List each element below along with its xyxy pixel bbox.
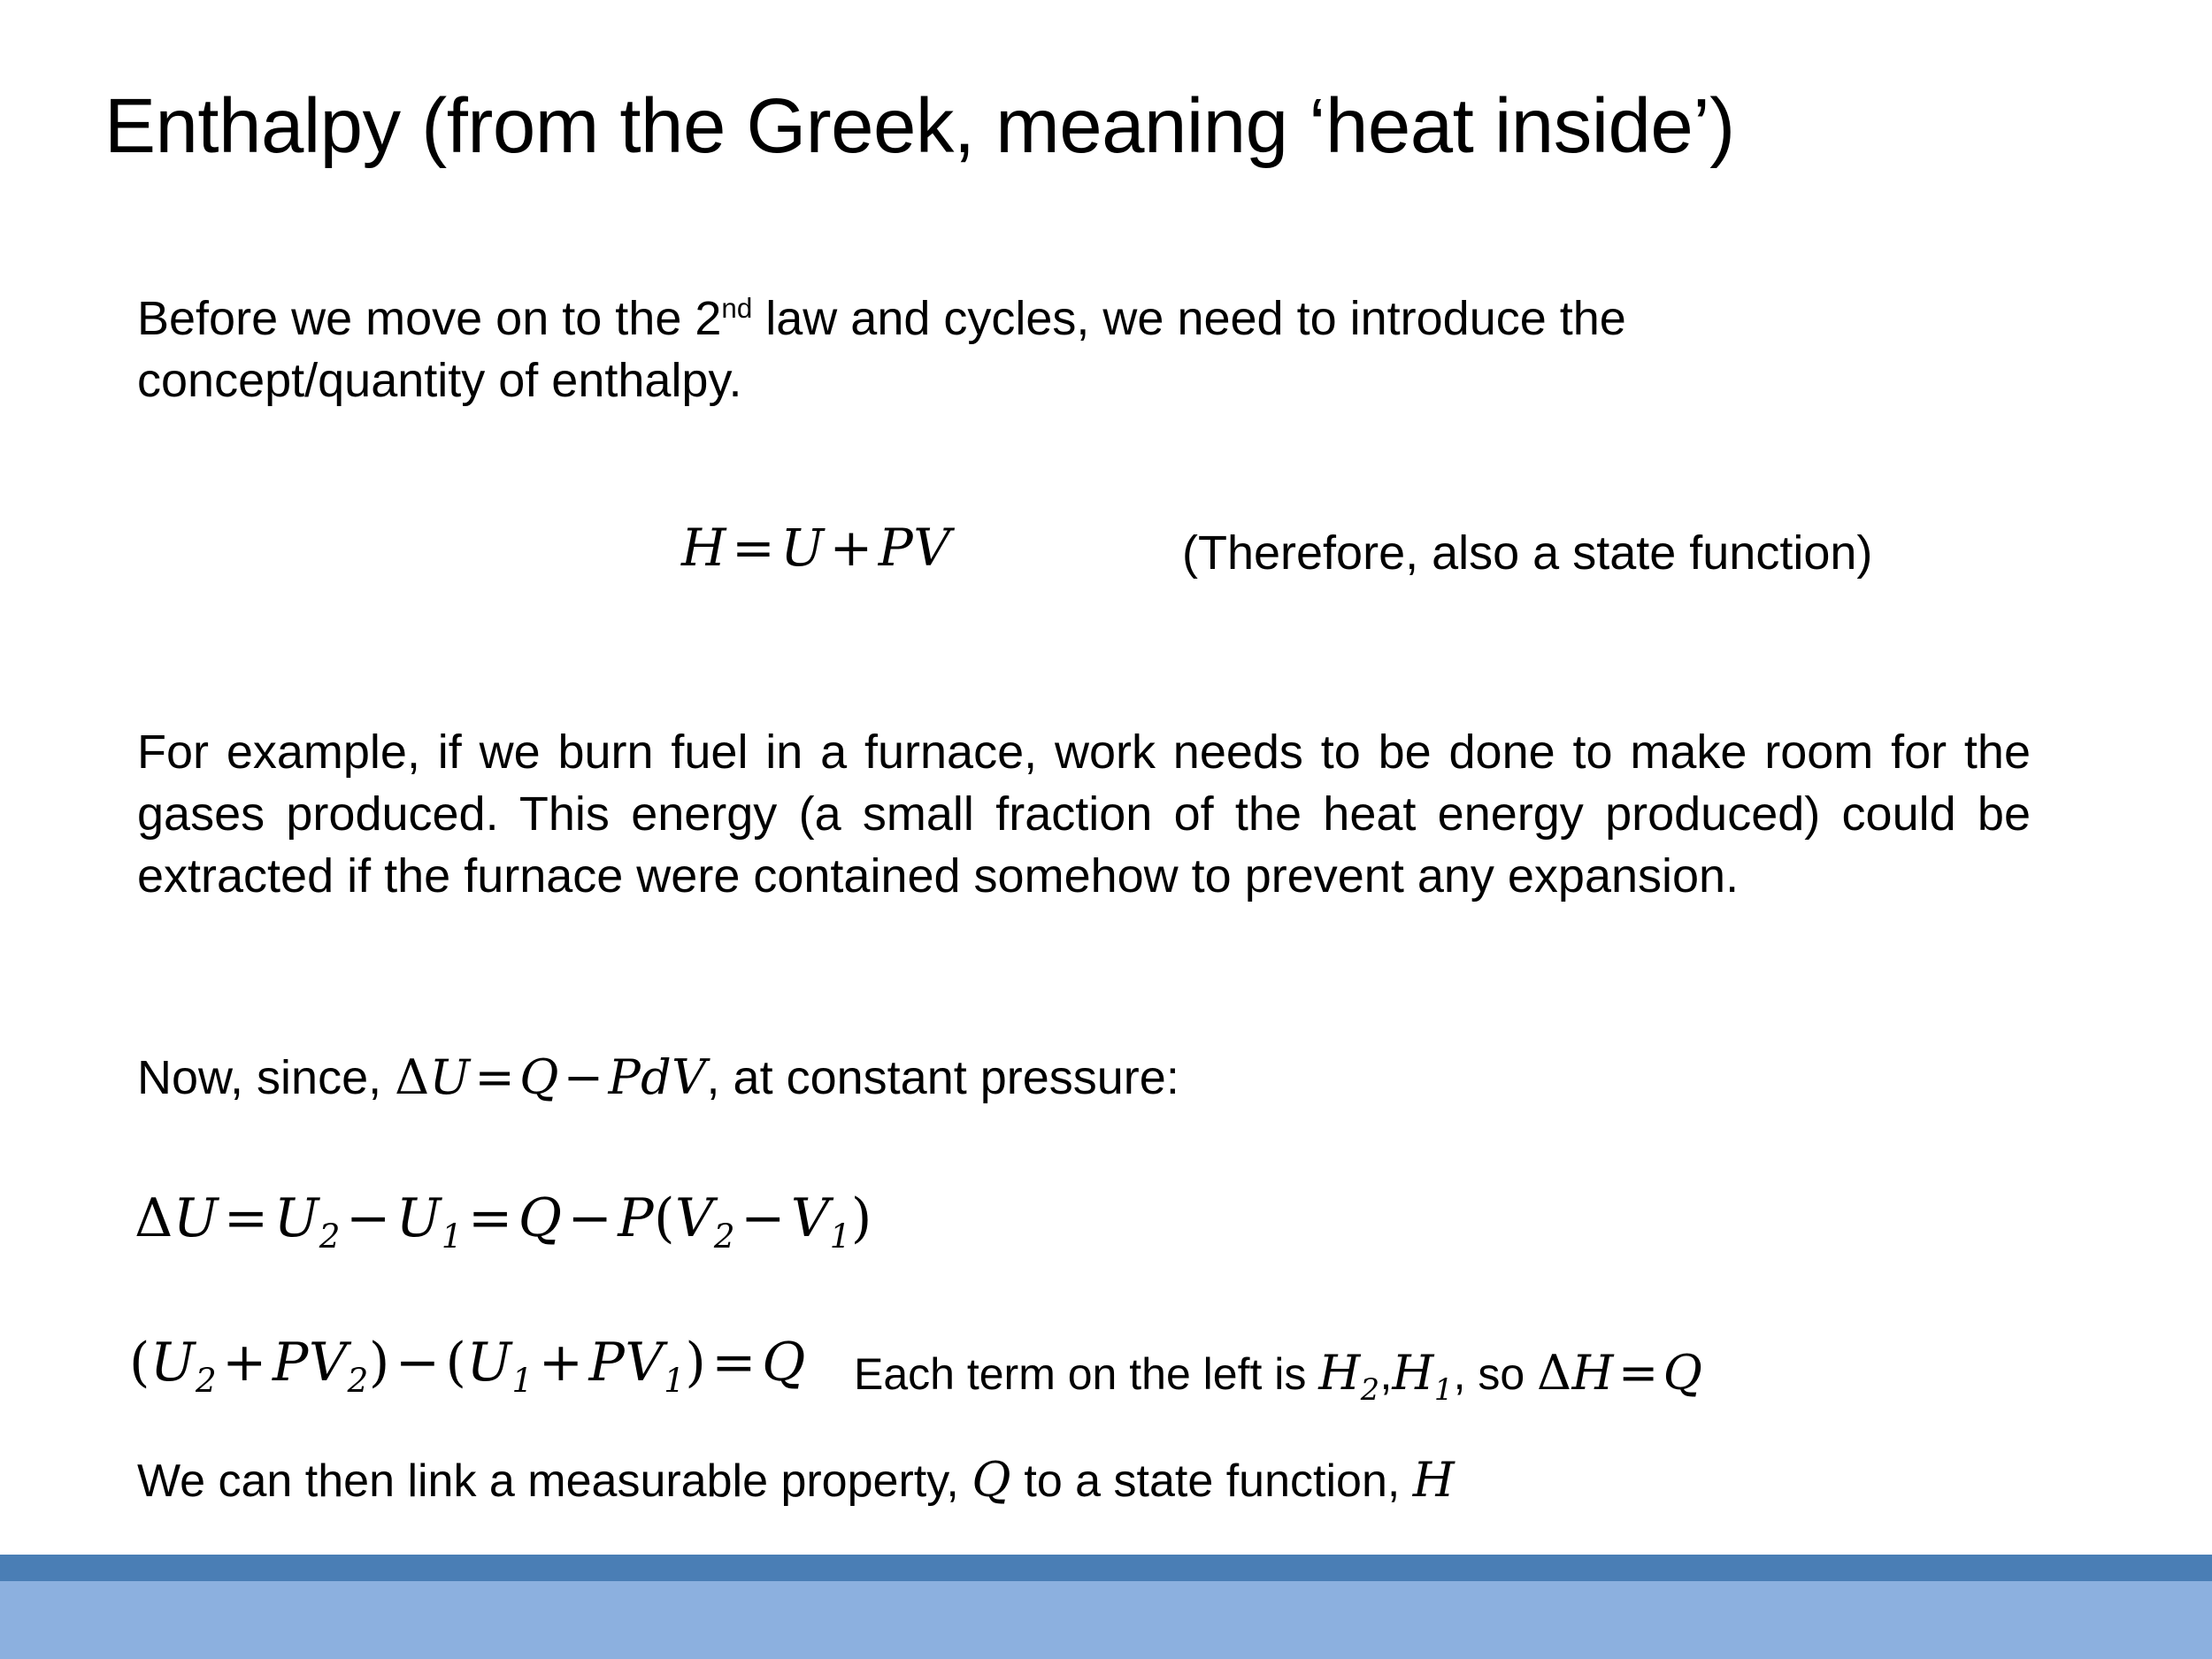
example-paragraph: For example, if we burn fuel in a furnac… xyxy=(137,721,2031,908)
symbol-U: U xyxy=(430,1049,471,1105)
inline-H1: H1 xyxy=(1392,1345,1453,1401)
closing-mid: to a state function, xyxy=(1011,1455,1413,1507)
intro-text-before-superscript: Before we move on to the 2 xyxy=(137,292,721,345)
now-since-lead: Now, since, xyxy=(137,1051,395,1104)
symbol-U2: U xyxy=(150,1332,196,1394)
symbol-U1: U xyxy=(466,1332,511,1394)
subscript-1: 1 xyxy=(1434,1372,1454,1407)
open-paren: ( xyxy=(129,1332,150,1394)
subscript-2: 2 xyxy=(714,1217,735,1256)
symbol-H: H xyxy=(1571,1345,1614,1401)
note-mid: , so xyxy=(1454,1349,1537,1399)
inline-equation-first-law: ΔU=Q−PdV xyxy=(395,1049,706,1105)
symbol-P: P xyxy=(618,1187,654,1249)
symbol-H: H xyxy=(1413,1452,1455,1508)
open-paren: ( xyxy=(446,1332,467,1394)
symbol-U2: U xyxy=(274,1187,319,1249)
symbol-minus: − xyxy=(390,1332,446,1394)
inline-delta-h-equals-q: ΔH=Q xyxy=(1537,1345,1702,1401)
subscript-1: 1 xyxy=(512,1361,534,1400)
subscript-2: 2 xyxy=(1361,1372,1380,1407)
symbol-PV: PV xyxy=(879,518,951,578)
symbol-equals: = xyxy=(706,1332,762,1394)
inline-H2: H2 xyxy=(1318,1345,1379,1401)
symbol-V1: V xyxy=(791,1187,830,1249)
symbol-H: H xyxy=(1392,1345,1434,1401)
symbol-V2: V xyxy=(675,1187,714,1249)
symbol-Q: Q xyxy=(972,1452,1011,1508)
slide-canvas: Enthalpy (from the Greek, meaning ‘heat … xyxy=(0,0,2212,1659)
symbol-equals: = xyxy=(463,1187,518,1249)
symbol-Q: Q xyxy=(519,1049,559,1105)
symbol-H: H xyxy=(681,518,726,578)
symbol-PdV: PdV xyxy=(608,1049,706,1105)
symbol-H: H xyxy=(1318,1345,1361,1401)
symbol-PV1: PV xyxy=(588,1332,664,1394)
page-title: Enthalpy (from the Greek, meaning ‘heat … xyxy=(104,83,2122,169)
symbol-U: U xyxy=(780,518,824,578)
symbol-minus: − xyxy=(562,1187,618,1249)
symbol-delta: Δ xyxy=(1537,1345,1571,1401)
symbol-equals: = xyxy=(470,1049,519,1105)
equation-enthalpy-terms: (U2+PV2)−(U1+PV1)=Q xyxy=(129,1332,806,1394)
subscript-2: 2 xyxy=(319,1217,341,1256)
subscript-2: 2 xyxy=(196,1361,217,1400)
close-paren: ) xyxy=(685,1332,706,1394)
symbol-plus: + xyxy=(825,518,879,578)
closing-lead: We can then link a measurable property, xyxy=(137,1455,972,1507)
closing-line: We can then link a measurable property, … xyxy=(137,1449,1455,1512)
symbol-Q: Q xyxy=(1663,1345,1703,1401)
footer-accent-bar-light xyxy=(0,1581,2212,1659)
subscript-1: 1 xyxy=(442,1217,463,1256)
symbol-PV2: PV xyxy=(273,1332,348,1394)
note-comma: , xyxy=(1379,1349,1392,1399)
symbol-plus: + xyxy=(217,1332,273,1394)
intro-paragraph: Before we move on to the 2nd law and cyc… xyxy=(137,288,1818,411)
now-since-line: Now, since, ΔU=Q−PdV, at constant pressu… xyxy=(137,1047,1907,1109)
symbol-minus: − xyxy=(341,1187,396,1249)
symbol-delta: Δ xyxy=(134,1187,173,1249)
symbol-plus: + xyxy=(534,1332,589,1394)
equation-delta-u: ΔU=U2−U1=Q−P(V2−V1) xyxy=(134,1187,872,1249)
symbol-minus: − xyxy=(735,1187,791,1249)
subscript-1: 1 xyxy=(664,1361,685,1400)
symbol-equals: = xyxy=(1614,1345,1663,1401)
definition-equation-note: (Therefore, also a state function) xyxy=(1182,522,1872,584)
now-since-tail: , at constant pressure: xyxy=(707,1051,1179,1104)
close-paren: ) xyxy=(369,1332,390,1394)
subscript-2: 2 xyxy=(348,1361,369,1400)
close-paren: ) xyxy=(851,1187,872,1249)
symbol-Q: Q xyxy=(762,1332,806,1394)
symbol-U: U xyxy=(173,1187,219,1249)
enthalpy-terms-note: Each term on the left is H2,H1, so ΔH=Q xyxy=(854,1342,1702,1404)
symbol-delta: Δ xyxy=(395,1049,429,1105)
symbol-minus: − xyxy=(559,1049,609,1105)
symbol-equals: = xyxy=(726,518,780,578)
symbol-Q: Q xyxy=(518,1187,563,1249)
footer-accent-bar-dark xyxy=(0,1555,2212,1581)
open-paren: ( xyxy=(654,1187,675,1249)
ordinal-superscript: nd xyxy=(721,293,752,324)
equation-enthalpy-definition: H=U+PV xyxy=(681,518,951,578)
symbol-equals: = xyxy=(219,1187,274,1249)
note-lead: Each term on the left is xyxy=(854,1349,1318,1399)
subscript-1: 1 xyxy=(830,1217,851,1256)
symbol-U1: U xyxy=(396,1187,442,1249)
